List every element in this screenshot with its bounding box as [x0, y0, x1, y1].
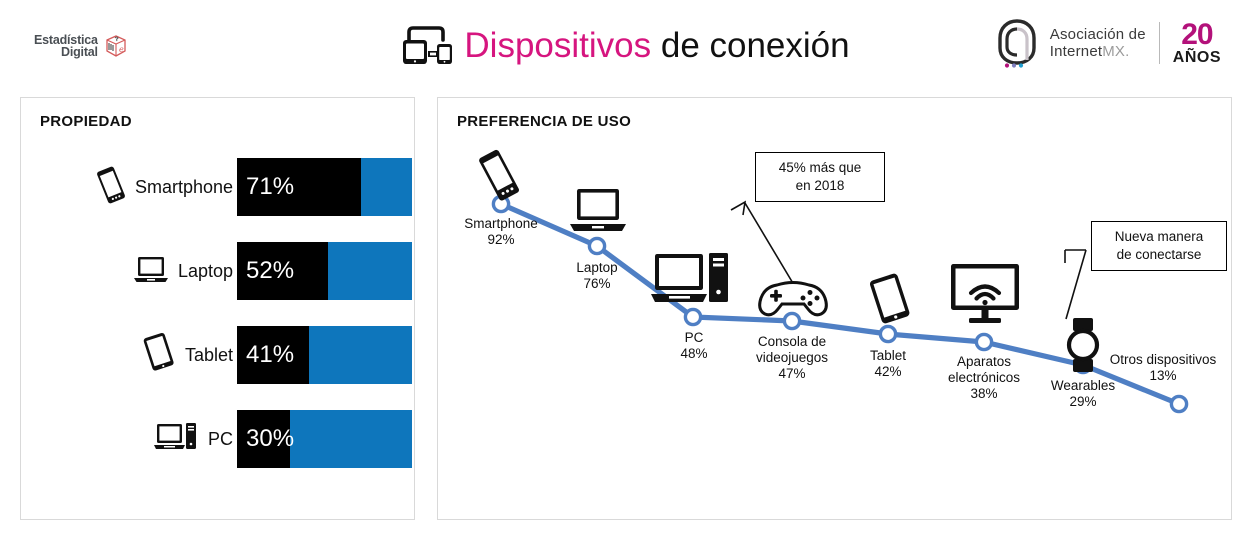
asociacion-internet-mx-logo: Asociación de InternetMX. 20 AÑOS — [993, 18, 1221, 68]
bar-value: 30% — [246, 425, 294, 453]
anniversary-badge: 20 AÑOS — [1173, 20, 1221, 66]
marker-laptop — [589, 238, 604, 253]
callout-line-2: de conectarse — [1117, 247, 1202, 262]
bar-track: 30% — [237, 410, 412, 468]
bar-label-tablet: Tablet — [21, 313, 237, 397]
node-value: 76% — [583, 276, 610, 291]
anniversary-word: AÑOS — [1173, 50, 1221, 66]
bar-row: Smartphone 71% — [21, 145, 414, 229]
node-name: Smartphone — [464, 216, 538, 231]
node-name: Tablet — [870, 348, 906, 363]
node-value: 42% — [874, 364, 901, 379]
node-label-laptop: Laptop 76% — [544, 260, 650, 292]
bar-row: Laptop 52% — [21, 229, 414, 313]
node-value: 38% — [970, 386, 997, 401]
node-name: Otros dispositivos — [1110, 352, 1217, 367]
node-value: 92% — [487, 232, 514, 247]
fingerprint-logo-icon — [993, 18, 1041, 68]
propiedad-panel: PROPIEDAD — [20, 97, 415, 520]
bar-track: 52% — [237, 242, 412, 300]
bar-track: 71% — [237, 158, 412, 216]
node-name: Consola de videojuegos — [756, 334, 828, 365]
org-line-2: Internet — [1050, 43, 1102, 60]
bar-label-smartphone: Smartphone — [21, 145, 237, 229]
preferencia-line-chart: Smartphone 92% Laptop 76% PC 48% Consola… — [438, 98, 1233, 521]
node-label-otros: Otros dispositivos 13% — [1093, 352, 1233, 384]
propiedad-bar-chart: Smartphone 71% — [21, 145, 414, 481]
marker-aparatos — [976, 334, 991, 349]
bar-name: Laptop — [178, 261, 233, 282]
node-name: PC — [685, 330, 704, 345]
node-value: 13% — [1149, 368, 1176, 383]
smartphone-icon — [94, 164, 128, 211]
node-value: 29% — [1069, 394, 1096, 409]
page-title-highlight: Dispositivos — [464, 26, 651, 65]
anniversary-number: 20 — [1181, 20, 1212, 50]
org-suffix: MX. — [1102, 43, 1129, 60]
callout-45-mas-que-2018: 45% más que en 2018 — [755, 152, 885, 202]
bar-name: Smartphone — [135, 177, 233, 198]
node-label-smartphone: Smartphone 92% — [438, 216, 564, 248]
org-line-1: Asociación de — [1050, 26, 1146, 43]
org-name: Asociación de InternetMX. — [1050, 26, 1146, 60]
propiedad-panel-title: PROPIEDAD — [40, 113, 132, 130]
callout-line-1: Nueva manera — [1115, 229, 1204, 244]
bar-value: 71% — [246, 173, 294, 201]
devices-icon — [399, 24, 457, 68]
node-name: Laptop — [576, 260, 617, 275]
callout-line-1: 45% más que — [779, 160, 862, 175]
bar-label-laptop: Laptop — [21, 229, 237, 313]
tablet-icon — [138, 330, 178, 381]
node-value: 48% — [680, 346, 707, 361]
bar-row: PC 30% — [21, 397, 414, 481]
node-value: 47% — [778, 366, 805, 381]
callout-leader-2 — [1065, 250, 1086, 319]
bar-label-pc: PC — [21, 397, 237, 481]
bar-value: 52% — [246, 257, 294, 285]
bar-name: PC — [208, 429, 233, 450]
bar-name: Tablet — [185, 345, 233, 366]
header: Estadística Digital e — [0, 0, 1249, 92]
node-name: Aparatos electrónicos — [948, 354, 1020, 385]
infographic-root: Estadística Digital e — [0, 0, 1249, 533]
bar-track: 41% — [237, 326, 412, 384]
logo-divider — [1159, 22, 1160, 64]
preferencia-de-uso-panel: PREFERENCIA DE USO — [437, 97, 1232, 520]
laptop-icon — [131, 253, 171, 290]
node-label-aparatos: Aparatos electrónicos 38% — [920, 354, 1048, 402]
bar-value: 41% — [246, 341, 294, 369]
page-title-text: Dispositivos de conexión — [464, 26, 849, 66]
desktop-pc-icon — [153, 420, 201, 459]
marker-otros — [1171, 396, 1186, 411]
bar-row: Tablet 41% — [21, 313, 414, 397]
page-title-rest: de conexión — [651, 26, 849, 65]
callout-line-2: en 2018 — [796, 178, 845, 193]
callout-nueva-manera: Nueva manera de conectarse — [1091, 221, 1227, 271]
